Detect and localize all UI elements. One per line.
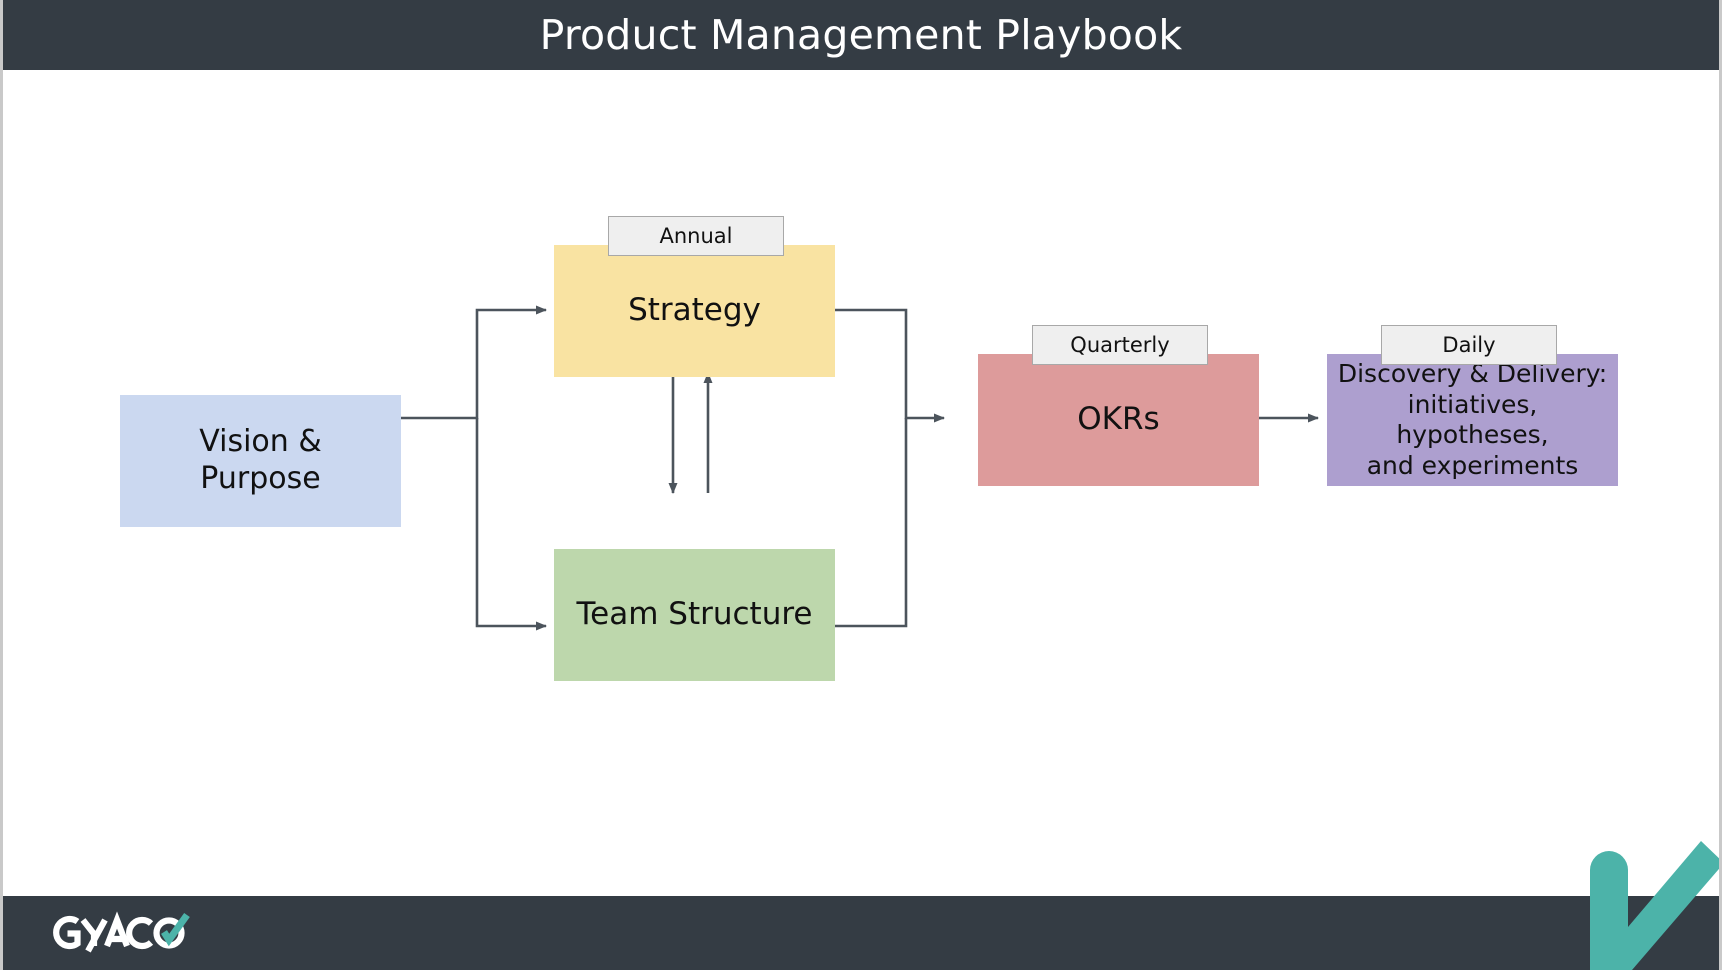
- gyaco-logo: [47, 910, 197, 956]
- node-team-structure-label: Team Structure: [569, 596, 821, 634]
- node-vision-and-purpose[interactable]: Vision & Purpose: [120, 395, 401, 527]
- header-bar: Product Management Playbook: [3, 0, 1719, 70]
- cadence-badge-annual-label: Annual: [660, 226, 733, 247]
- page-title: Product Management Playbook: [540, 15, 1183, 56]
- node-okrs-label: OKRs: [1069, 401, 1167, 439]
- edge-vision-to-team: [477, 418, 546, 626]
- edge-team-to-okrs: [830, 418, 906, 626]
- edge-strategy-to-okrs: [830, 310, 944, 418]
- cadence-badge-daily-label: Daily: [1442, 335, 1495, 356]
- diagram-canvas: Annual Quarterly Daily Vision & Purpose …: [3, 70, 1719, 896]
- node-strategy[interactable]: Strategy: [554, 245, 835, 377]
- gyaco-logo-letter-a: [107, 920, 127, 946]
- node-okrs[interactable]: OKRs: [978, 354, 1259, 486]
- node-vision-and-purpose-label: Vision & Purpose: [191, 424, 329, 497]
- node-discovery-and-delivery-label: Discovery & Delivery: initiatives, hypot…: [1327, 359, 1618, 481]
- cadence-badge-quarterly-label: Quarterly: [1070, 335, 1169, 356]
- edge-vision-to-strategy: [401, 310, 546, 418]
- footer-bar: [3, 896, 1719, 970]
- node-strategy-label: Strategy: [620, 292, 769, 330]
- gyaco-logo-letter-c: [129, 920, 151, 946]
- cadence-badge-daily: Daily: [1381, 325, 1557, 365]
- slide: Product Management Playbook: [0, 0, 1722, 970]
- node-team-structure[interactable]: Team Structure: [554, 549, 835, 681]
- cadence-badge-annual: Annual: [608, 216, 784, 256]
- gyaco-logo-letter-g: [56, 919, 77, 946]
- node-discovery-and-delivery[interactable]: Discovery & Delivery: initiatives, hypot…: [1327, 354, 1618, 486]
- cadence-badge-quarterly: Quarterly: [1032, 325, 1208, 365]
